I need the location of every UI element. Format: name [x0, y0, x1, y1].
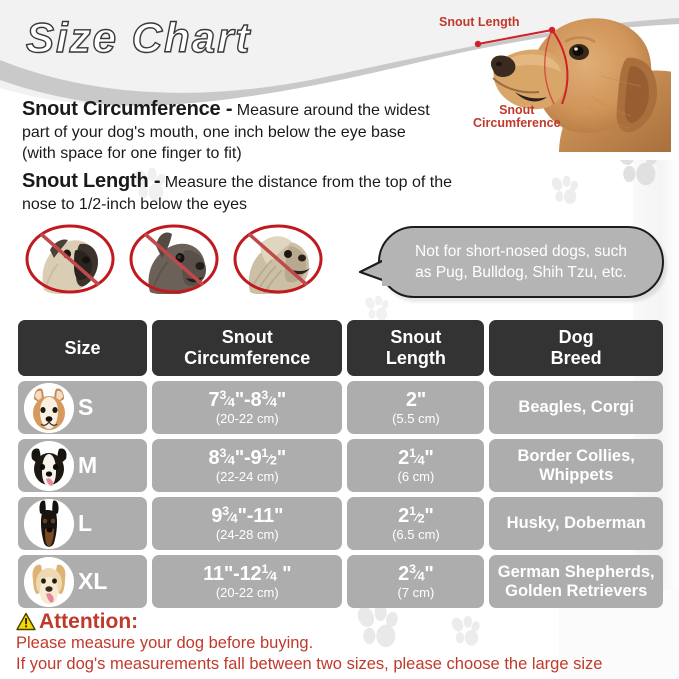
header-breed-label: Dog Breed: [551, 327, 602, 369]
row-breed-cell: German Shepherds, Golden Retrievers: [489, 555, 663, 608]
size-label: XL: [78, 568, 107, 595]
header-cell-snout-circumference: Snout Circumference: [152, 320, 342, 376]
length-metric: (5.5 cm): [392, 411, 440, 426]
prohibition-sign-icon: [128, 224, 220, 294]
circumference-value: 73⁄4"-83⁄4": [209, 389, 286, 411]
size-table: Size Snout Circumference Snout Length Do…: [18, 320, 663, 613]
circumference-value: 93⁄4"-11": [211, 505, 283, 527]
warning-speech-bubble: Not for short-nosed dogs, such as Pug, B…: [378, 226, 664, 298]
doberman-photo: [24, 499, 74, 549]
warning-bubble-text: Not for short-nosed dogs, such as Pug, B…: [401, 241, 641, 283]
corgi-photo: [24, 383, 74, 433]
golden-retriever-photo: [24, 557, 74, 607]
header-cell-dog-breed: Dog Breed: [489, 320, 663, 376]
row-size-cell: XL: [18, 555, 147, 608]
attention-heading: Attention:: [16, 610, 602, 633]
header-cell-size: Size: [18, 320, 147, 376]
row-length-cell: 2" (5.5 cm): [347, 381, 484, 434]
breed-value: Beagles, Corgi: [514, 398, 638, 417]
row-size-cell: M: [18, 439, 147, 492]
paw-print-icon: [548, 176, 582, 208]
row-length-cell: 21⁄4" (6 cm): [347, 439, 484, 492]
warning-bubble-line1: Not for short-nosed dogs, such: [415, 241, 627, 262]
definition-snout-circumference: Snout Circumference - Measure around the…: [22, 99, 442, 165]
circumference-metric: (20-22 cm): [203, 585, 291, 600]
row-breed-cell: Husky, Doberman: [489, 497, 663, 550]
circumference-value: 83⁄4"-91⁄2": [209, 447, 286, 469]
length-metric: (6.5 cm): [392, 527, 440, 542]
circumference-metric: (22-24 cm): [209, 469, 286, 484]
attention-line-1: Please measure your dog before buying.: [16, 633, 602, 654]
length-metric: (7 cm): [398, 585, 435, 600]
header-circumference-label: Snout Circumference: [184, 327, 310, 369]
header-length-label: Snout Length: [386, 327, 446, 369]
definition-snout-length: Snout Length - Measure the distance from…: [22, 171, 472, 215]
breed-value: Border Collies, Whippets: [489, 447, 663, 485]
row-breed-cell: Beagles, Corgi: [489, 381, 663, 434]
table-header-row: Size Snout Circumference Snout Length Do…: [18, 320, 663, 376]
table-row: S 73⁄4"-83⁄4" (20-22 cm) 2" (5.5 cm) Bea…: [18, 381, 663, 434]
size-label: L: [78, 510, 92, 537]
length-value: 21⁄2": [398, 505, 434, 527]
table-row: M 83⁄4"-91⁄2" (22-24 cm) 21⁄4" (6 cm) Bo…: [18, 439, 663, 492]
prohibition-sign-icon: [232, 224, 324, 294]
circumference-metric: (24-28 cm): [211, 527, 283, 542]
row-size-cell: S: [18, 381, 147, 434]
speech-bubble-tail: [358, 256, 390, 292]
size-chart-page: Size Chart: [0, 0, 679, 679]
length-value: 23⁄4": [398, 563, 434, 585]
row-circumference-cell: 11"-121⁄4 " (20-22 cm): [152, 555, 342, 608]
row-circumference-cell: 83⁄4"-91⁄2" (22-24 cm): [152, 439, 342, 492]
annotation-snout-length: Snout Length: [439, 16, 520, 29]
length-value: 21⁄4": [398, 447, 434, 469]
attention-notice: Attention: Please measure your dog befor…: [16, 610, 602, 675]
table-row: XL 11"-121⁄4 " (20-22 cm) 23⁄4" (7 cm) G…: [18, 555, 663, 608]
row-circumference-cell: 73⁄4"-83⁄4" (20-22 cm): [152, 381, 342, 434]
warning-bubble-line2: as Pug, Bulldog, Shih Tzu, etc.: [415, 262, 627, 283]
excluded-breed-pug: [24, 224, 116, 294]
annotation-snout-circumference: Snout Circumference: [473, 104, 561, 130]
row-length-cell: 21⁄2" (6.5 cm): [347, 497, 484, 550]
breed-value: Husky, Doberman: [503, 514, 650, 533]
attention-heading-text: Attention:: [39, 610, 138, 633]
circumference-metric: (20-22 cm): [209, 411, 286, 426]
length-value: 2": [406, 389, 426, 411]
length-metric: (6 cm): [398, 469, 435, 484]
page-title: Size Chart: [26, 14, 251, 62]
header-size-label: Size: [64, 338, 100, 359]
warning-triangle-icon: [16, 612, 36, 631]
header-cell-snout-length: Snout Length: [347, 320, 484, 376]
row-circumference-cell: 93⁄4"-11" (24-28 cm): [152, 497, 342, 550]
prohibition-sign-icon: [24, 224, 116, 294]
row-breed-cell: Border Collies, Whippets: [489, 439, 663, 492]
definition-term-circumference: Snout Circumference -: [22, 98, 232, 120]
size-label: M: [78, 452, 97, 479]
attention-line-2: If your dog's measurements fall between …: [16, 654, 602, 675]
annotation-snout-circumference-line2: Circumference: [473, 117, 561, 130]
table-row: L 93⁄4"-11" (24-28 cm) 21⁄2" (6.5 cm) Hu…: [18, 497, 663, 550]
row-length-cell: 23⁄4" (7 cm): [347, 555, 484, 608]
circumference-value: 11"-121⁄4 ": [203, 563, 291, 585]
breed-value: German Shepherds, Golden Retrievers: [489, 563, 663, 601]
excluded-breed-french-bulldog: [128, 224, 220, 294]
row-size-cell: L: [18, 497, 147, 550]
excluded-breed-shih-tzu: [232, 224, 324, 294]
excluded-breeds-group: [24, 224, 324, 294]
size-label: S: [78, 394, 93, 421]
definition-term-length: Snout Length -: [22, 170, 160, 192]
border-collie-photo: [24, 441, 74, 491]
